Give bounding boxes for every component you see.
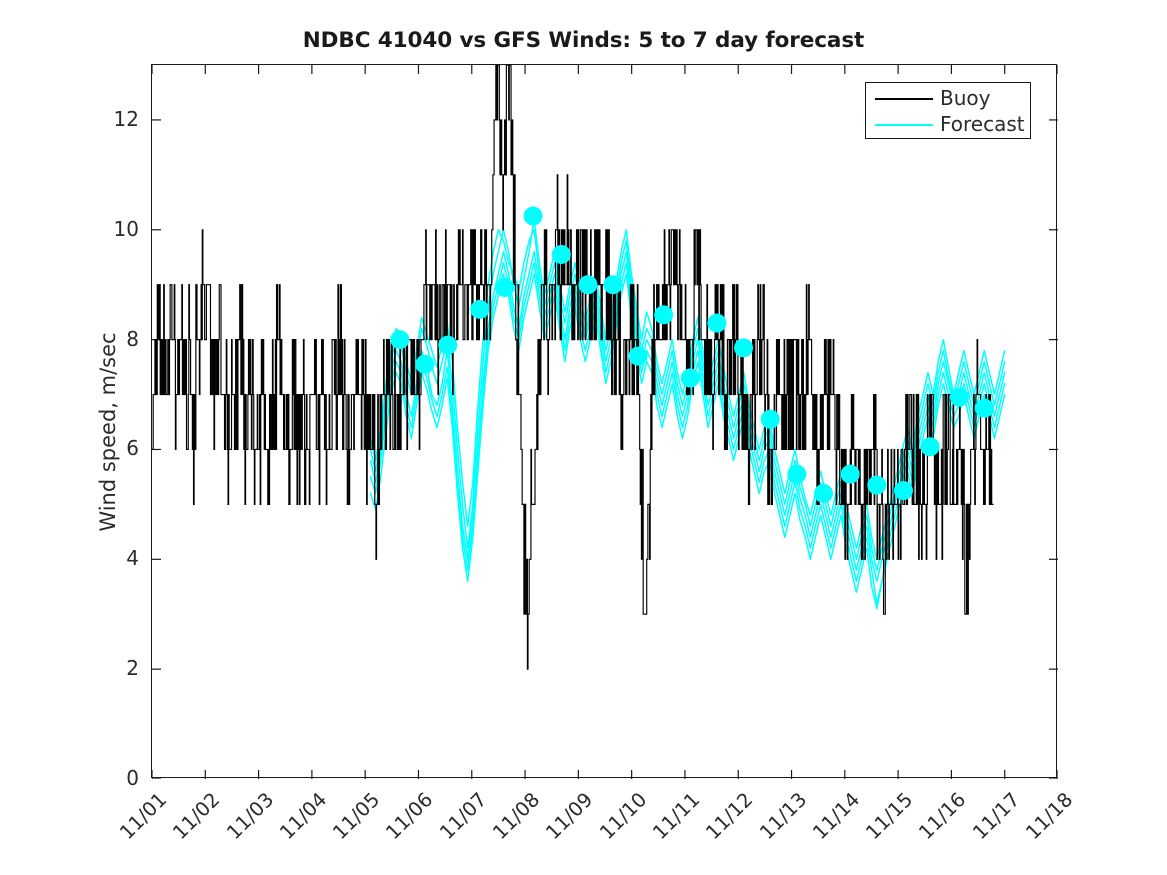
forecast-marker-point	[707, 314, 726, 333]
forecast-marker-point	[470, 300, 489, 319]
plot-area	[151, 64, 1057, 778]
legend-row-forecast: Forecast	[866, 111, 1032, 139]
chart-legend: Buoy Forecast	[865, 82, 1031, 139]
forecast-marker-point	[894, 481, 913, 500]
forecast-marker-point	[867, 476, 886, 495]
forecast-marker-point	[814, 484, 833, 503]
forecast-marker-point	[734, 338, 753, 357]
forecast-marker-point	[761, 410, 780, 429]
forecast-marker-point	[975, 399, 994, 418]
page-title: NDBC 41040 vs GFS Winds: 5 to 7 day fore…	[0, 28, 1167, 53]
legend-swatch-forecast	[875, 124, 933, 126]
forecast-marker-point	[390, 330, 409, 349]
forecast-marker-point	[787, 465, 806, 484]
buoy-series-path	[152, 65, 993, 669]
y-tick-label: 2	[103, 658, 139, 678]
forecast-marker-point	[438, 336, 457, 355]
legend-label-buoy: Buoy	[940, 84, 990, 112]
forecast-marker-point	[415, 355, 434, 374]
forecast-marker-point	[629, 347, 648, 366]
forecast-marker-point	[578, 275, 597, 294]
y-tick-label: 6	[103, 438, 139, 458]
forecast-marker-point	[603, 275, 622, 294]
x-axis-tick-labels: 11/0111/0211/0311/0411/0511/0611/0711/08…	[151, 778, 1057, 873]
forecast-marker-point	[950, 388, 969, 407]
legend-swatch-buoy	[875, 98, 933, 100]
legend-label-forecast: Forecast	[940, 110, 1025, 138]
y-axis-tick-labels: 121086420	[95, 64, 139, 778]
chart-figure: NDBC 41040 vs GFS Winds: 5 to 7 day fore…	[0, 0, 1167, 875]
legend-row-buoy: Buoy	[866, 85, 1032, 113]
forecast-marker-point	[552, 245, 571, 264]
y-tick-label: 10	[103, 219, 139, 239]
forecast-marker-point	[921, 437, 940, 456]
y-tick-label: 4	[103, 548, 139, 568]
forecast-marker-point	[681, 369, 700, 388]
buoy-observation-stairs	[152, 65, 993, 669]
y-tick-label: 12	[103, 109, 139, 129]
forecast-marker-point	[524, 207, 543, 226]
plot-canvas	[152, 65, 1058, 779]
y-tick-label: 0	[103, 768, 139, 788]
forecast-marker-point	[654, 305, 673, 324]
forecast-marker-point	[841, 465, 860, 484]
forecast-marker-point	[495, 278, 514, 297]
y-tick-label: 8	[103, 329, 139, 349]
